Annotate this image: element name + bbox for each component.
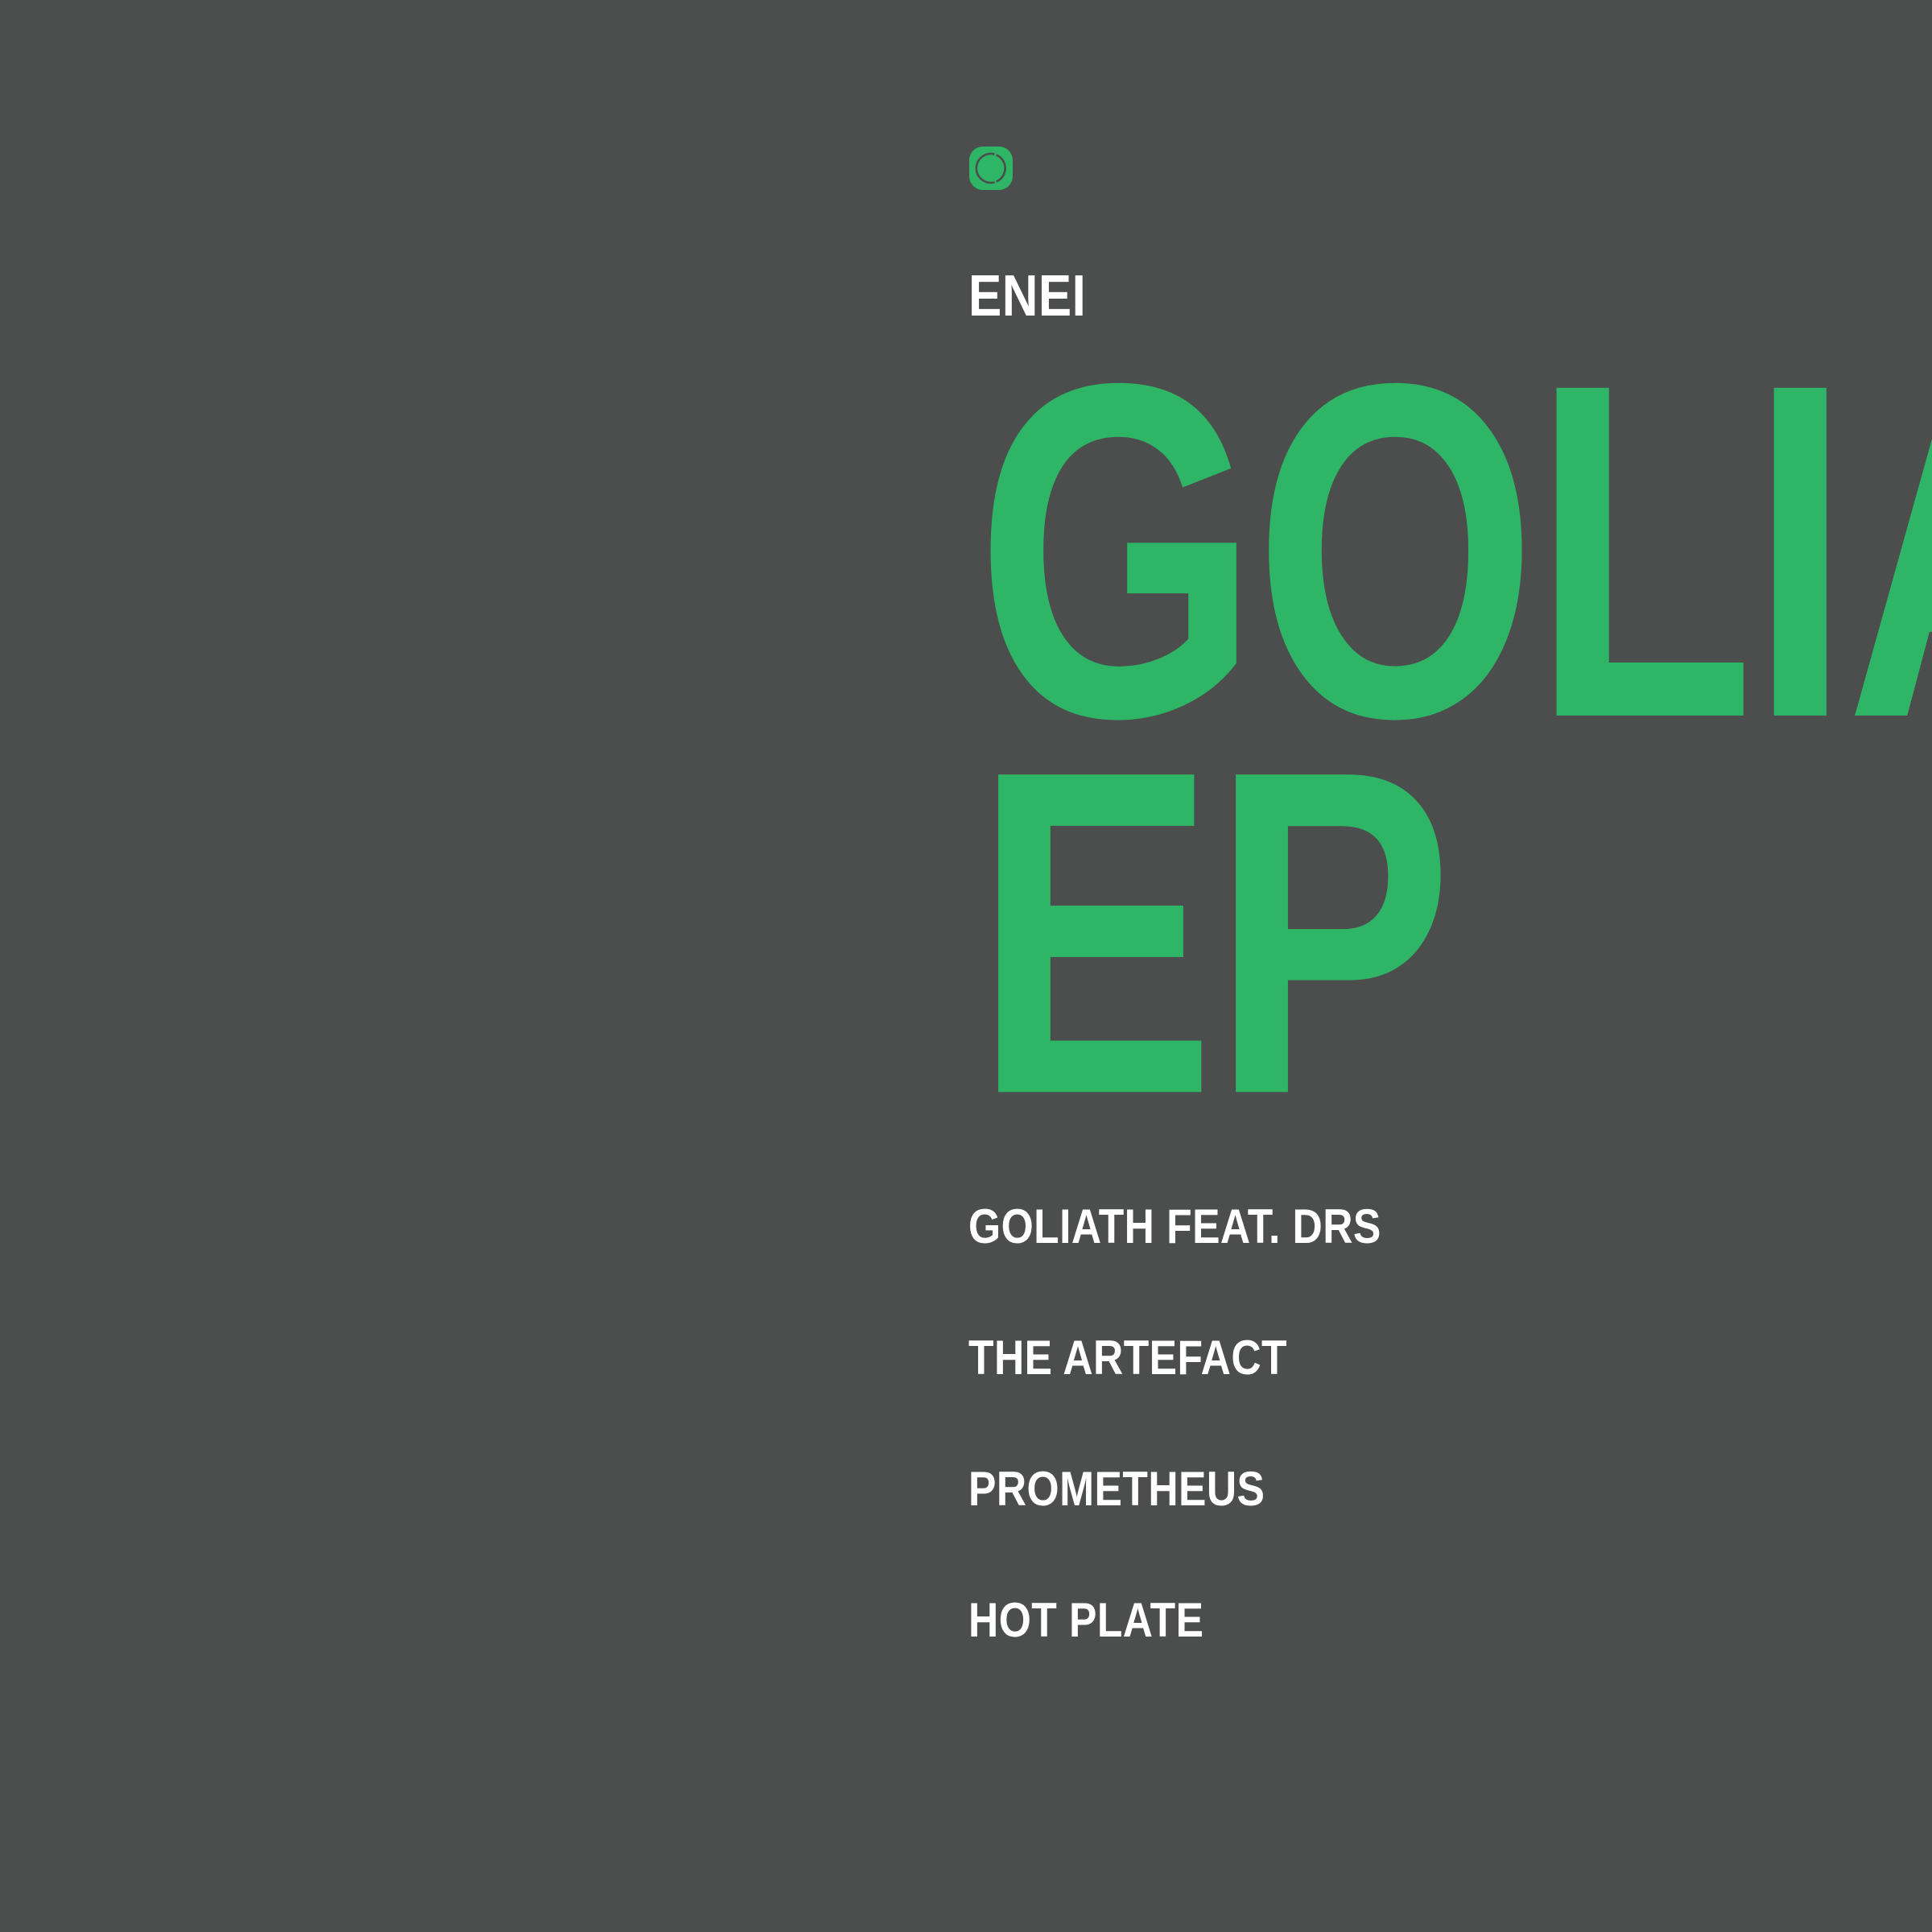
release-title-line-1: GOLIATH <box>976 312 1932 789</box>
track-row[interactable]: GOLIATH FEAT. DRS <box>968 1203 1854 1334</box>
tracklist: GOLIATH FEAT. DRS THE ARTEFACT PROMETHEU… <box>968 1203 1854 1728</box>
track-row[interactable]: THE ARTEFACT <box>968 1334 1854 1465</box>
track-title: PROMETHEUS <box>968 1465 1265 1513</box>
album-cover: ENEI GOLIATH EP GOLIATH FEAT. DRS THE AR… <box>0 0 1932 1932</box>
track-title: GOLIATH FEAT. DRS <box>968 1203 1381 1251</box>
release-title-line-2: EP <box>974 702 1449 1163</box>
track-row[interactable]: HOT PLATE <box>968 1596 1854 1728</box>
track-title: THE ARTEFACT <box>968 1334 1287 1382</box>
artist-name: ENEI <box>968 267 1086 325</box>
circle-record-logo-icon[interactable] <box>969 147 1013 190</box>
track-title: HOT PLATE <box>968 1596 1203 1645</box>
track-row[interactable]: PROMETHEUS <box>968 1465 1854 1596</box>
